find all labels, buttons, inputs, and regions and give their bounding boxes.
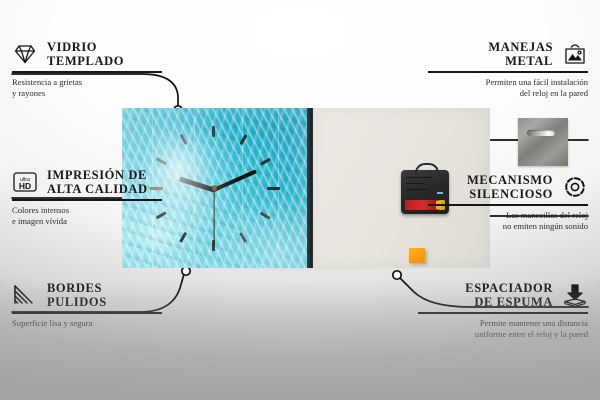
feature-impresion-alta-calidad: ultra HD IMPRESIÓN DE ALTA CALIDAD Color… [12,168,162,227]
clock-tick [239,232,247,243]
feature-title: ESPACIADOR DE ESPUMA [465,281,553,309]
hanger-slot [527,130,555,136]
feature-rule [12,71,162,73]
feature-header: VIDRIO TEMPLADO [12,40,162,68]
feature-mecanismo-silencioso: MECANISMO SILENCIOSO Las manecillas del … [428,173,588,232]
feature-rule [428,204,588,206]
clock-hand-hour [179,177,215,192]
feature-header: ultra HD IMPRESIÓN DE ALTA CALIDAD [12,168,162,196]
gear-icon [562,175,588,199]
feature-vidrio-templado: VIDRIO TEMPLADO Resistencia a grietas y … [12,40,162,99]
ultra-hd-icon: ultra HD [12,170,38,194]
feature-header: BORDES PULIDOS [12,281,162,309]
feature-description: Las manecillas del reloj no emiten ningú… [428,210,588,232]
clock-center-hub [212,186,217,191]
feature-manejas-metal: MANEJAS METAL Permiten una fácil instala… [428,40,588,99]
clock-tick [212,126,215,137]
foam-spacer-arrow-icon [562,283,588,307]
feature-description: Resistencia a grietas y rayones [12,77,162,99]
feature-description: Permite mantener una distancia uniforme … [418,318,588,340]
clock-tick [156,158,167,166]
feature-title: MANEJAS METAL [488,40,553,68]
polished-edges-icon [12,283,38,307]
clock-tick [267,187,280,190]
feature-header: MANEJAS METAL [428,40,588,68]
foam-spacer [409,248,425,263]
feature-title: MECANISMO SILENCIOSO [467,173,553,201]
feature-header: MECANISMO SILENCIOSO [428,173,588,201]
feature-rule [12,312,162,314]
feature-rule [418,312,588,314]
feature-description: Colores intensos e imagen vívida [12,205,162,227]
feature-description: Superficie lisa y segura [12,318,162,329]
feature-title: BORDES PULIDOS [47,281,107,309]
svg-text:HD: HD [19,181,31,191]
clock-hand-minute [213,169,257,192]
wall-frame-hook-icon [562,42,588,66]
feature-espaciador-espuma: ESPACIADOR DE ESPUMA Permite mantener un… [418,281,588,340]
clock-tick [179,232,187,243]
feature-header: ESPACIADOR DE ESPUMA [418,281,588,309]
feature-title: VIDRIO TEMPLADO [47,40,124,68]
clock-hand-second [213,189,214,247]
diamond-icon [12,42,38,66]
clock-tick [212,240,215,251]
metal-hanger-plate [518,118,568,166]
feature-rule [428,71,588,73]
feature-rule [12,199,162,201]
clock-tick [260,212,271,220]
clock-tick [179,134,187,145]
feature-description: Permiten una fácil instalación del reloj… [428,77,588,99]
feature-title: IMPRESIÓN DE ALTA CALIDAD [47,168,148,196]
feature-bordes-pulidos: BORDES PULIDOS Superficie lisa y segura [12,281,162,329]
clock-tick [260,158,271,166]
infographic-canvas: VIDRIO TEMPLADO Resistencia a grietas y … [0,0,600,400]
clock-tick [239,134,247,145]
